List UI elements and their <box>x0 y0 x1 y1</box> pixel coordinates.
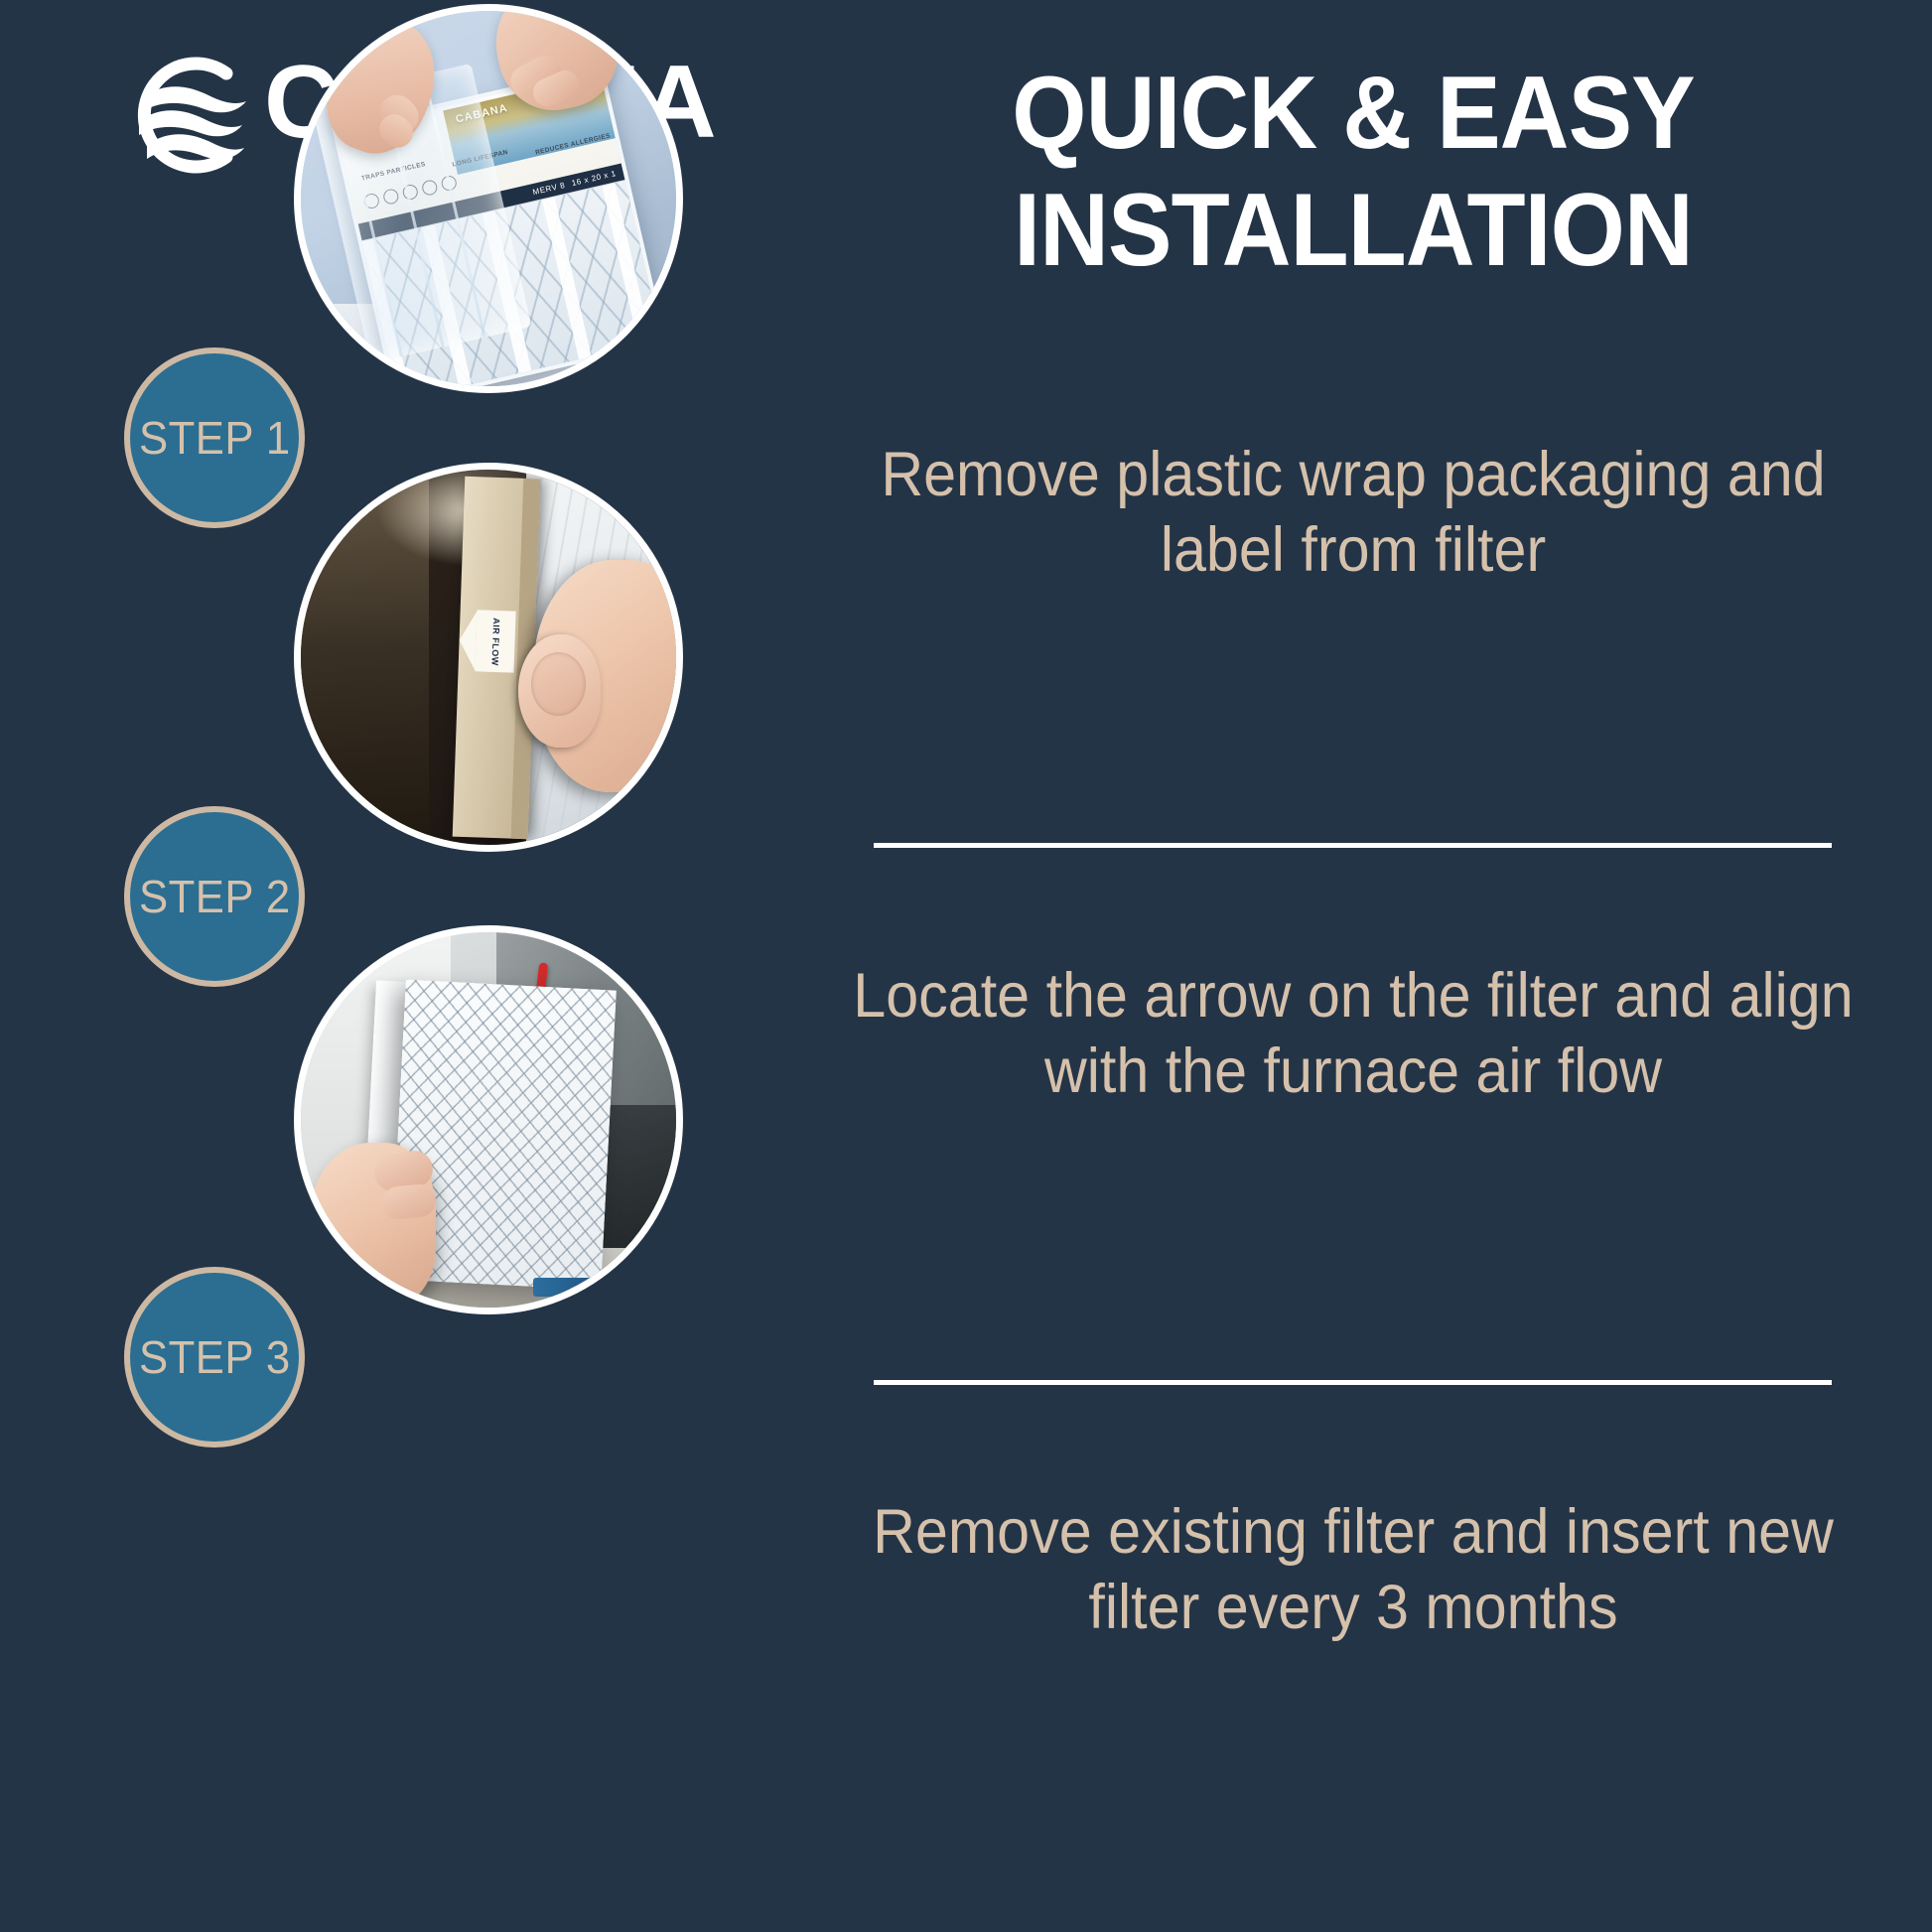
label-merv: MERV 8 <box>532 181 566 197</box>
step-3-photo <box>294 925 683 1314</box>
thumb <box>518 634 601 747</box>
arrow-text-line1: AIR <box>490 617 501 633</box>
step-2-badge[interactable]: STEP 2 <box>124 806 305 987</box>
step-1-description: Remove plastic wrap packaging and label … <box>845 437 1863 588</box>
step-1-badge-label: STEP 1 <box>139 411 291 465</box>
air-flow-arrow-label: AIR FLOW <box>475 610 515 672</box>
step-2-description: Locate the arrow on the filter and align… <box>845 958 1863 1109</box>
step-1-photo: CABANA TRAPS PARTICLES LONG LIFESPAN RED… <box>294 4 683 393</box>
hand-inserting-filter <box>309 1143 437 1308</box>
headline-line-1: QUICK & EASY <box>850 62 1857 165</box>
step-2-badge-label: STEP 2 <box>139 870 291 923</box>
arrow-text-line2: FLOW <box>489 636 500 665</box>
page-title: QUICK & EASY INSTALLATION <box>812 38 1894 266</box>
step-2-photo: AIR FLOW <box>294 463 683 852</box>
step-3-badge-label: STEP 3 <box>139 1330 291 1384</box>
arrow-head-icon <box>458 610 477 671</box>
step-3-description: Remove existing filter and insert new fi… <box>845 1494 1863 1645</box>
thumbnail <box>531 652 586 715</box>
step-1-badge[interactable]: STEP 1 <box>124 347 305 528</box>
blue-handle <box>533 1278 616 1297</box>
headline-line-2: INSTALLATION <box>850 179 1857 282</box>
step-3-badge[interactable]: STEP 3 <box>124 1267 305 1448</box>
header: CABANA AIR FILTERS QUICK & EASY INSTALLA… <box>0 0 1932 298</box>
divider-1 <box>874 843 1832 848</box>
wave-circle-icon <box>117 52 248 179</box>
divider-2 <box>874 1380 1832 1385</box>
